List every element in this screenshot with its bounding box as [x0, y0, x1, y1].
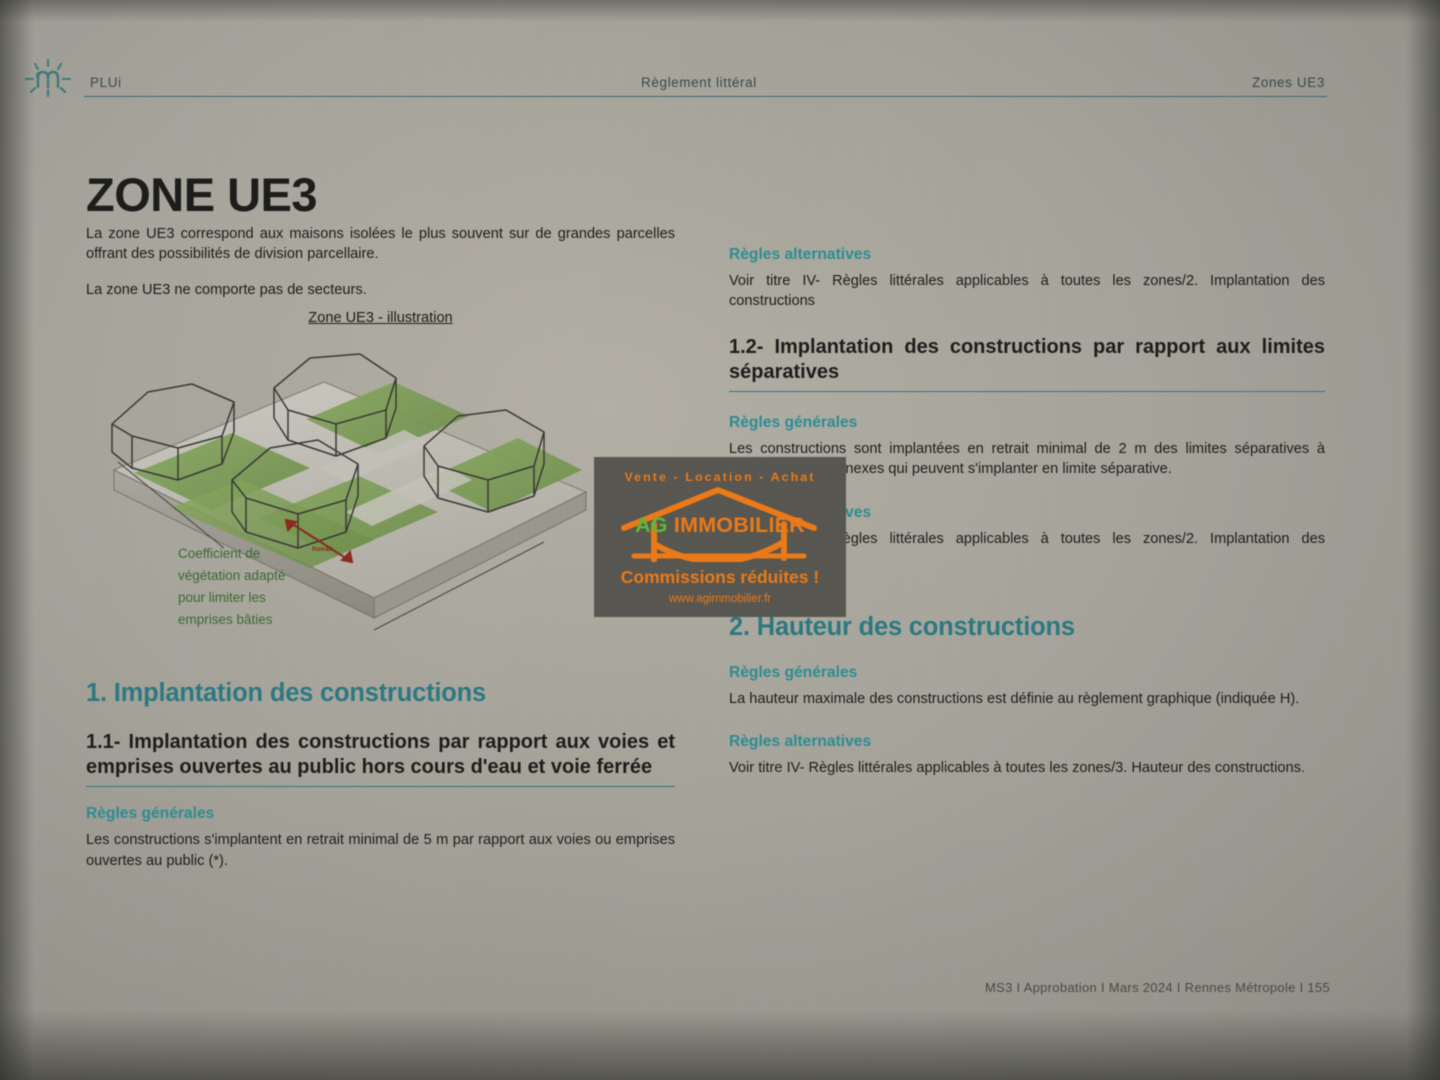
rules-alternative-text-3: Voir titre IV- Règles littérales applica… — [729, 758, 1325, 778]
page-header: PLUi Règlement littéral Zones UE3 — [0, 62, 1440, 104]
section-heading-1: 1. Implantation des constructions — [86, 679, 675, 708]
agency-watermark-overlay: Vente - Location - Achat AG IMMOBILIER C… — [594, 457, 846, 617]
rules-general-label-1: Règles générales — [86, 805, 675, 823]
rules-general-text-1: Les constructions s'implantent en retrai… — [86, 830, 675, 870]
section-heading-1-1: 1.1- Implantation des constructions par … — [86, 730, 675, 780]
section-divider-1-2 — [729, 391, 1325, 392]
watermark-subline: Commissions réduites ! — [594, 567, 846, 588]
watermark-tagline: Vente - Location - Achat — [594, 470, 846, 484]
svg-text:végétation adapté: végétation adapté — [178, 568, 285, 583]
header-divider — [84, 96, 1327, 97]
zone-illustration: Retrait Coefficient de végétation adapté… — [74, 340, 634, 645]
illustration-arrow-label: Retrait — [312, 546, 333, 553]
section-heading-1-2: 1.2- Implantation des constructions par … — [729, 335, 1325, 385]
rules-general-label-3: Règles générales — [729, 664, 1325, 682]
rules-alternative-text-1: Voir titre IV- Règles littérales applica… — [729, 271, 1325, 311]
section-divider-1-1 — [86, 786, 675, 787]
header-label-plui: PLUi — [90, 75, 122, 90]
page-footer: MS3 I Approbation I Mars 2024 I Rennes M… — [0, 980, 1330, 995]
rules-alternative-label-1: Règles alternatives — [729, 246, 1325, 264]
watermark-url: www.agimmobilier.fr — [594, 593, 846, 605]
rules-general-text-3: La hauteur maximale des constructions es… — [729, 689, 1325, 709]
screenshot-root: PLUi Règlement littéral Zones UE3 ZONE U… — [0, 0, 1440, 1080]
rennes-metropole-logo-icon — [18, 56, 78, 102]
left-column: La zone UE3 correspond aux maisons isolé… — [86, 224, 675, 887]
header-label-zone: Zones UE3 — [1252, 75, 1325, 90]
section-heading-2: 2. Hauteur des constructions — [729, 613, 1325, 642]
page-title: ZONE UE3 — [86, 167, 317, 222]
header-label-document: Règlement littéral — [641, 75, 757, 90]
watermark-brand: AG IMMOBILIER — [594, 513, 846, 538]
rules-alternative-label-3: Règles alternatives — [729, 733, 1325, 751]
svg-text:pour limiter les: pour limiter les — [178, 590, 266, 605]
watermark-brand-immobilier: IMMOBILIER — [674, 513, 805, 537]
svg-text:emprises bâties: emprises bâties — [178, 612, 273, 627]
svg-text:Coefficient de: Coefficient de — [178, 546, 260, 561]
intro-paragraph-1: La zone UE3 correspond aux maisons isolé… — [86, 224, 675, 264]
rules-general-label-2: Règles générales — [729, 414, 1325, 432]
watermark-brand-ag: AG — [635, 513, 674, 537]
illustration-caption: Zone UE3 - illustration — [86, 310, 675, 326]
intro-paragraph-2: La zone UE3 ne comporte pas de secteurs. — [86, 280, 675, 300]
